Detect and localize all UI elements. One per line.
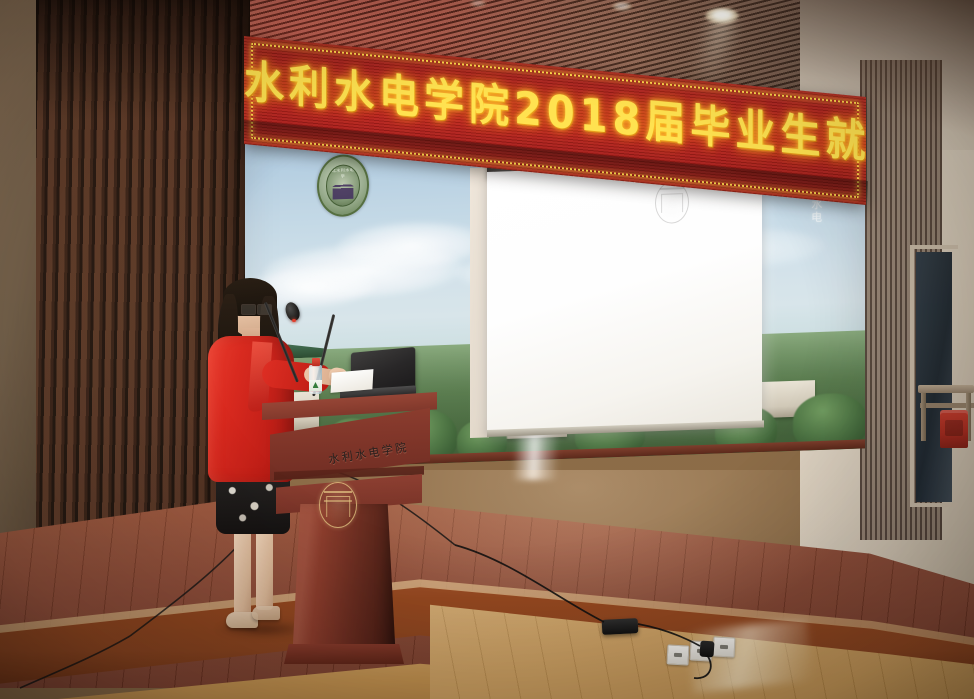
wall-power-outlet[interactable]	[712, 636, 735, 657]
left-side-pillar	[0, 0, 36, 620]
emblem-arc-text: 华北水利水电大学	[327, 167, 360, 180]
power-adapter-brick	[602, 618, 639, 635]
auditorium-scene-photo: 华北水利水电大学 水利水电	[0, 0, 974, 699]
power-plug[interactable]	[699, 641, 714, 658]
bench-top-surface	[918, 385, 974, 393]
wall-power-outlet[interactable]	[666, 644, 689, 665]
bottle-label	[309, 380, 322, 391]
emblem-gate-icon	[333, 180, 354, 199]
ceiling-downlight	[612, 2, 632, 11]
podium-base	[284, 644, 404, 664]
printed-notes	[331, 369, 374, 393]
water-bottle	[309, 358, 322, 394]
university-emblem: 华北水利水电大学	[317, 154, 369, 218]
left-wall-top-shadow	[0, 0, 250, 120]
projection-screen[interactable]	[487, 162, 762, 434]
red-plastic-stool[interactable]	[940, 410, 968, 448]
ceiling-downlight	[470, 0, 486, 7]
podium-column-shading	[292, 504, 396, 662]
bench-leg	[921, 393, 926, 441]
speaking-podium: 水利水电学院	[262, 392, 437, 662]
emblem-inner-ring: 华北水利水电大学	[326, 164, 361, 207]
door-frame	[910, 245, 958, 507]
microphone-indicator-led	[292, 319, 296, 322]
podium-title-text: 水利水电学院	[327, 438, 410, 467]
bottle-cap	[312, 358, 320, 366]
university-seal-icon	[319, 482, 357, 528]
presenter-leg	[234, 526, 251, 618]
